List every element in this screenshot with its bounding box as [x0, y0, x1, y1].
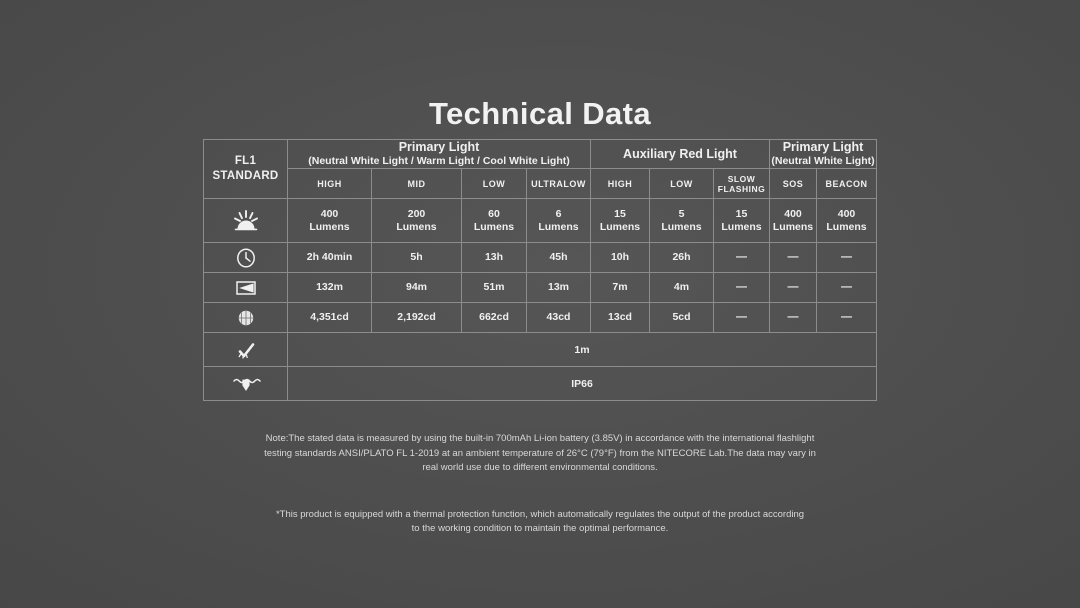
table-row-beam-distance: 132m 94m 51m 13m 7m 4m — — —: [204, 273, 877, 303]
mode-header-sos: SOS: [770, 169, 817, 199]
value-lumens-ultralow: 6 Lumens: [527, 199, 591, 243]
value-intensity-beacon: —: [817, 303, 877, 333]
fl1-standard-line2: STANDARD: [212, 170, 278, 182]
page-title: Technical Data: [0, 96, 1080, 132]
value-distance-low-red: 4m: [650, 273, 714, 303]
value-distance-mid: 94m: [372, 273, 462, 303]
water-resistance-icon: [204, 367, 288, 401]
peak-beam-intensity-icon: [204, 303, 288, 333]
value-lumens-sos: 400 Lumens: [770, 199, 817, 243]
value-distance-beacon: —: [817, 273, 877, 303]
value-intensity-high-red: 13cd: [591, 303, 650, 333]
impact-resistance-icon: [204, 333, 288, 367]
value-lumens-slow-flashing: 15 Lumens: [714, 199, 770, 243]
value-lumens-high-red: 15 Lumens: [591, 199, 650, 243]
group-header-auxiliary-red-light: Auxiliary Red Light: [591, 140, 770, 169]
note-measurement-standard: Note:The stated data is measured by usin…: [260, 432, 820, 476]
lumens-sunburst-icon: [204, 199, 288, 243]
group-title-primary-light: Primary Light: [399, 140, 480, 154]
table-row-water-resistance: IP66: [204, 367, 877, 401]
group-title-auxiliary-red-light: Auxiliary Red Light: [623, 147, 737, 161]
value-lumens-low-red: 5 Lumens: [650, 199, 714, 243]
value-impact-resistance: 1m: [288, 333, 877, 367]
value-runtime-ultralow: 45h: [527, 243, 591, 273]
technical-data-page: Technical Data FL1 STANDARD: [0, 0, 1080, 608]
group-header-primary-light: Primary Light (Neutral White Light / War…: [288, 140, 591, 169]
mode-header-high-red: HIGH: [591, 169, 650, 199]
mode-header-ultralow: ULTRALOW: [527, 169, 591, 199]
value-lumens-high-primary: 400 Lumens: [288, 199, 372, 243]
value-runtime-slow-flashing: —: [714, 243, 770, 273]
mode-header-beacon: BEACON: [817, 169, 877, 199]
table-group-header-row: FL1 STANDARD Primary Light (Neutral Whit…: [204, 140, 877, 169]
value-distance-ultralow: 13m: [527, 273, 591, 303]
table-row-peak-beam-intensity: 4,351cd 2,192cd 662cd 43cd 13cd 5cd — — …: [204, 303, 877, 333]
spec-table-container: FL1 STANDARD Primary Light (Neutral Whit…: [203, 139, 876, 401]
runtime-clock-icon: [204, 243, 288, 273]
note-thermal-protection: *This product is equipped with a thermal…: [275, 508, 805, 537]
value-lumens-beacon: 400 Lumens: [817, 199, 877, 243]
value-intensity-slow-flashing: —: [714, 303, 770, 333]
beam-distance-icon: [204, 273, 288, 303]
value-intensity-ultralow: 43cd: [527, 303, 591, 333]
group-header-primary-light-special: Primary Light (Neutral White Light): [770, 140, 877, 169]
value-runtime-high-red: 10h: [591, 243, 650, 273]
group-subtitle-primary-light-special: (Neutral White Light): [770, 155, 876, 168]
value-lumens-low-primary: 60 Lumens: [462, 199, 527, 243]
group-subtitle-primary-light: (Neutral White Light / Warm Light / Cool…: [288, 155, 590, 168]
value-distance-slow-flashing: —: [714, 273, 770, 303]
value-distance-low-primary: 51m: [462, 273, 527, 303]
value-runtime-low-primary: 13h: [462, 243, 527, 273]
group-title-primary-light-special: Primary Light: [783, 140, 864, 154]
mode-header-slow-flashing: SLOW FLASHING: [714, 169, 770, 199]
technical-data-table: FL1 STANDARD Primary Light (Neutral Whit…: [203, 139, 877, 401]
value-lumens-mid: 200 Lumens: [372, 199, 462, 243]
table-row-luminous-output: 400 Lumens 200 Lumens 60 Lumens 6 Lumens…: [204, 199, 877, 243]
table-row-runtime: 2h 40min 5h 13h 45h 10h 26h — — —: [204, 243, 877, 273]
table-mode-header-row: HIGH MID LOW ULTRALOW HIGH LOW SLOW FLAS…: [204, 169, 877, 199]
fl1-standard-line1: FL1: [235, 155, 256, 167]
value-runtime-beacon: —: [817, 243, 877, 273]
value-intensity-mid: 2,192cd: [372, 303, 462, 333]
notes-section: Note:The stated data is measured by usin…: [0, 432, 1080, 537]
value-intensity-high-primary: 4,351cd: [288, 303, 372, 333]
mode-header-low-red: LOW: [650, 169, 714, 199]
value-runtime-low-red: 26h: [650, 243, 714, 273]
value-distance-high-red: 7m: [591, 273, 650, 303]
value-distance-sos: —: [770, 273, 817, 303]
mode-header-high-primary: HIGH: [288, 169, 372, 199]
value-intensity-low-primary: 662cd: [462, 303, 527, 333]
value-runtime-high-primary: 2h 40min: [288, 243, 372, 273]
value-runtime-sos: —: [770, 243, 817, 273]
fl1-standard-header: FL1 STANDARD: [204, 140, 288, 199]
mode-header-low-primary: LOW: [462, 169, 527, 199]
value-intensity-sos: —: [770, 303, 817, 333]
value-water-resistance: IP66: [288, 367, 877, 401]
value-intensity-low-red: 5cd: [650, 303, 714, 333]
table-row-impact-resistance: 1m: [204, 333, 877, 367]
value-runtime-mid: 5h: [372, 243, 462, 273]
value-distance-high-primary: 132m: [288, 273, 372, 303]
mode-header-mid: MID: [372, 169, 462, 199]
